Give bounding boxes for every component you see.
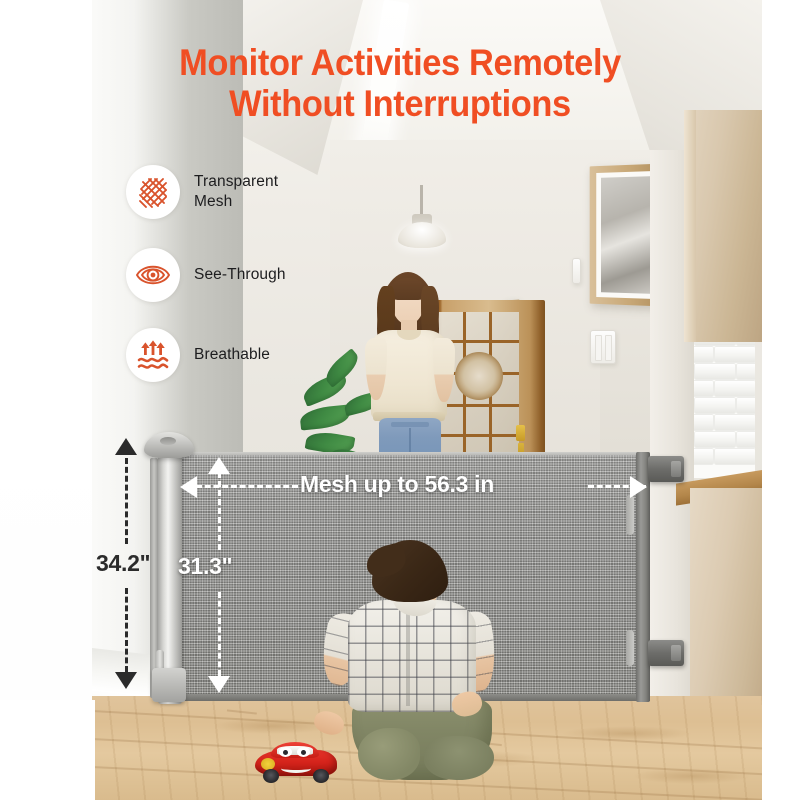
wall-latch-lower[interactable]	[648, 640, 684, 666]
upper-cabinet-edge	[684, 110, 696, 342]
breathable-icon	[136, 339, 170, 371]
width-arrow-right	[630, 476, 647, 498]
breathable-icon-badge	[126, 328, 180, 382]
width-dimension-label: Mesh up to 56.3 in	[300, 471, 494, 498]
woman-in-hallway	[355, 272, 465, 472]
overall-height-dash-top	[125, 458, 128, 544]
mesh-grid-icon-badge	[126, 165, 180, 219]
headline-line-1: Monitor Activities Remotely	[179, 42, 621, 83]
gate-post-cap-detail	[160, 437, 176, 445]
feature-see-through: See-Through	[126, 248, 286, 302]
mesh-height-arrow-down	[208, 676, 230, 693]
toy-race-car	[255, 740, 337, 784]
mesh-height-arrow-up	[208, 457, 230, 474]
headline-line-2: Without Interruptions	[28, 83, 772, 124]
mesh-height-dash-top	[218, 472, 221, 550]
eye-icon	[135, 260, 171, 290]
feature-breathable: Breathable	[126, 328, 270, 382]
feature-label-breathable: Breathable	[194, 345, 270, 365]
overall-height-label: 34.2"	[96, 550, 150, 577]
wall-latch-upper[interactable]	[648, 456, 684, 482]
door-knob	[516, 425, 525, 441]
eye-icon-badge	[126, 248, 180, 302]
mesh-height-label: 31.3"	[178, 553, 232, 580]
wall-switch-plate-upper	[572, 258, 581, 284]
mesh-height-dash-bottom	[218, 592, 221, 676]
feature-transparent-mesh: Transparent Mesh	[126, 165, 278, 219]
bottom-left-white-margin	[0, 700, 95, 800]
mesh-grid-icon	[136, 175, 170, 209]
gate-handle-upper[interactable]	[626, 495, 634, 535]
width-dash-left	[196, 485, 298, 488]
gate-handle-lower[interactable]	[626, 630, 634, 666]
overall-height-dash-bottom	[125, 588, 128, 672]
width-arrow-left	[180, 476, 197, 498]
page-title: Monitor Activities Remotely Without Inte…	[28, 42, 772, 125]
feature-label-see-through: See-Through	[194, 265, 286, 285]
overall-height-arrow-down	[115, 672, 137, 689]
product-marketing-image: Monitor Activities Remotely Without Inte…	[0, 0, 800, 800]
light-switch-plate	[590, 330, 616, 364]
overall-height-arrow-up	[115, 438, 137, 455]
gate-base-bracket	[152, 668, 186, 702]
feature-label-transparent-mesh: Transparent Mesh	[194, 172, 278, 211]
